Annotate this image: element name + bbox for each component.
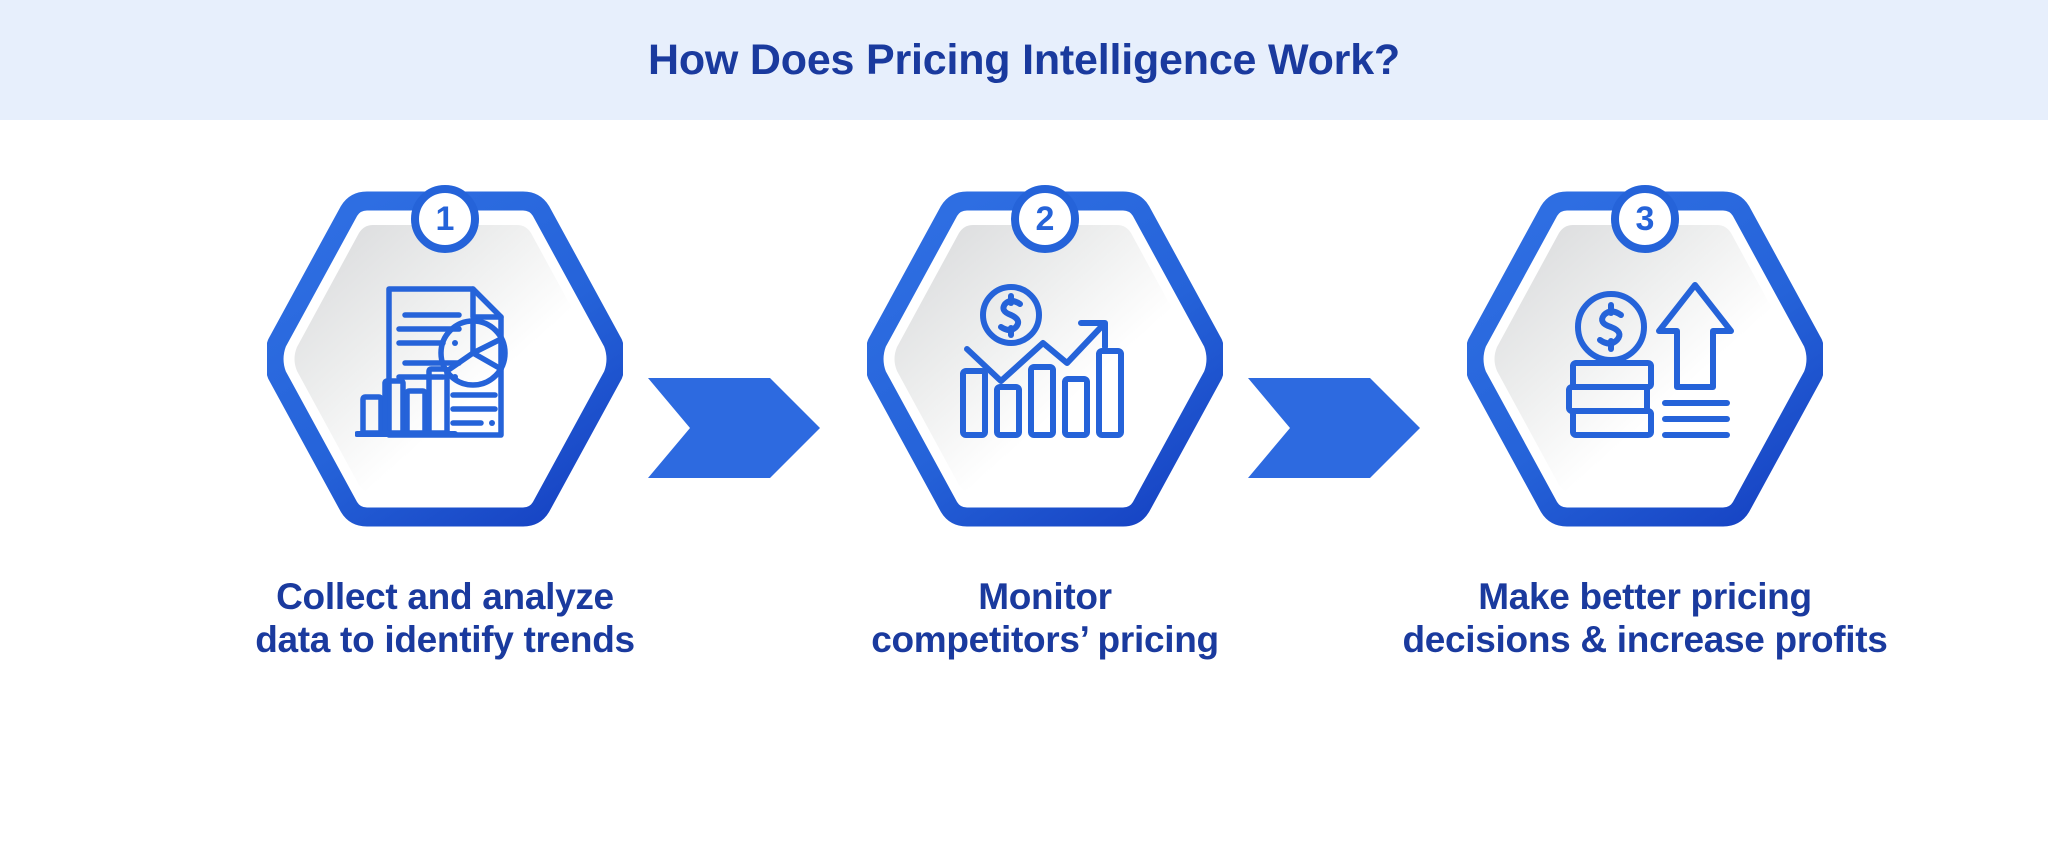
step-2-caption-line2: competitors’ pricing bbox=[795, 618, 1295, 661]
step-2-hexagon[interactable]: 2 bbox=[867, 185, 1223, 533]
step-1-caption-line2: data to identify trends bbox=[195, 618, 695, 661]
step-1-caption: Collect and analyze data to identify tre… bbox=[195, 575, 695, 662]
step-1: 1 Collect and analyze data to identify t… bbox=[235, 120, 655, 847]
step-3-caption-line1: Make better pricing bbox=[1395, 575, 1895, 618]
step-2-number: 2 bbox=[1009, 183, 1081, 255]
step-1-number-badge: 1 bbox=[409, 183, 481, 255]
document-analytics-icon bbox=[355, 277, 535, 449]
page-title: How Does Pricing Intelligence Work? bbox=[0, 0, 2048, 120]
step-3-caption: Make better pricing decisions & increase… bbox=[1395, 575, 1895, 662]
infographic-canvas: How Does Pricing Intelligence Work? bbox=[0, 0, 2048, 847]
step-2-caption: Monitor competitors’ pricing bbox=[795, 575, 1295, 662]
arrow-step1-to-step2 bbox=[648, 378, 820, 478]
step-3-number: 3 bbox=[1609, 183, 1681, 255]
step-3: 3 Make better pricing decisions & increa… bbox=[1435, 120, 1855, 847]
step-2-number-badge: 2 bbox=[1009, 183, 1081, 255]
step-1-hexagon[interactable]: 1 bbox=[267, 185, 623, 533]
step-2: 2 Monitor competitors’ pricing bbox=[835, 120, 1255, 847]
step-1-caption-line1: Collect and analyze bbox=[195, 575, 695, 618]
step-3-number-badge: 3 bbox=[1609, 183, 1681, 255]
step-2-caption-line1: Monitor bbox=[795, 575, 1295, 618]
coins-growth-arrow-icon bbox=[1555, 277, 1735, 449]
price-trend-chart-icon bbox=[955, 277, 1135, 449]
step-1-number: 1 bbox=[409, 183, 481, 255]
step-3-hexagon[interactable]: 3 bbox=[1467, 185, 1823, 533]
steps-container: 1 Collect and analyze data to identify t… bbox=[0, 120, 2048, 847]
step-3-caption-line2: decisions & increase profits bbox=[1395, 618, 1895, 661]
header-banner: How Does Pricing Intelligence Work? bbox=[0, 0, 2048, 120]
arrow-step2-to-step3 bbox=[1248, 378, 1420, 478]
